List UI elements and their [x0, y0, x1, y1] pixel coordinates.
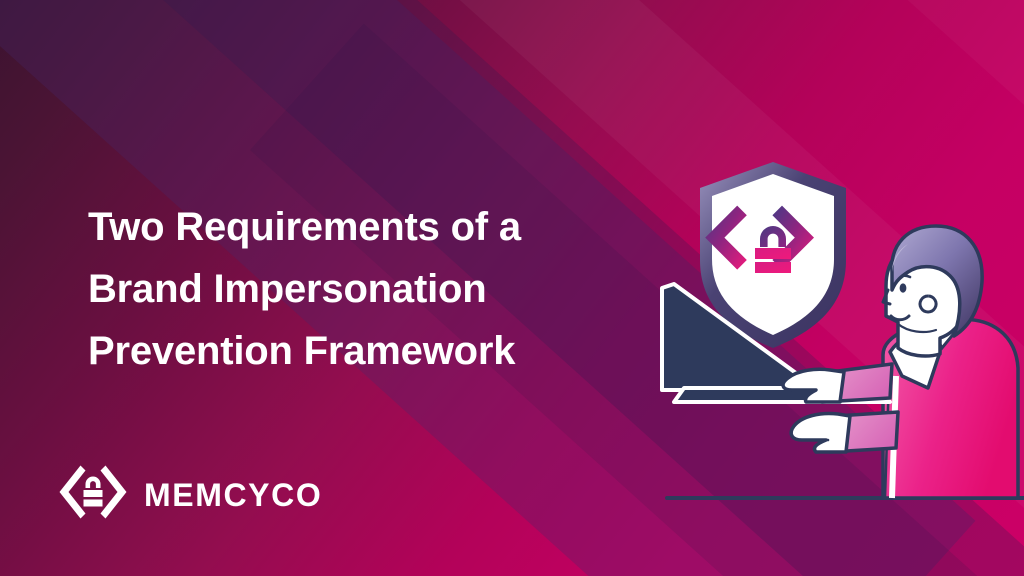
banner-headline: Two Requirements of a Brand Impersonatio…	[88, 196, 608, 382]
person-hands-and-sleeves	[783, 364, 898, 452]
memcyco-chevron-lock-icon	[58, 462, 128, 527]
brand-logo-lockup[interactable]: MEMCYCO	[58, 462, 322, 527]
hero-illustration	[640, 140, 1024, 520]
brand-wordmark: MEMCYCO	[144, 479, 322, 511]
person-using-laptop	[883, 226, 1018, 498]
blog-hero-banner: Two Requirements of a Brand Impersonatio…	[0, 0, 1024, 576]
